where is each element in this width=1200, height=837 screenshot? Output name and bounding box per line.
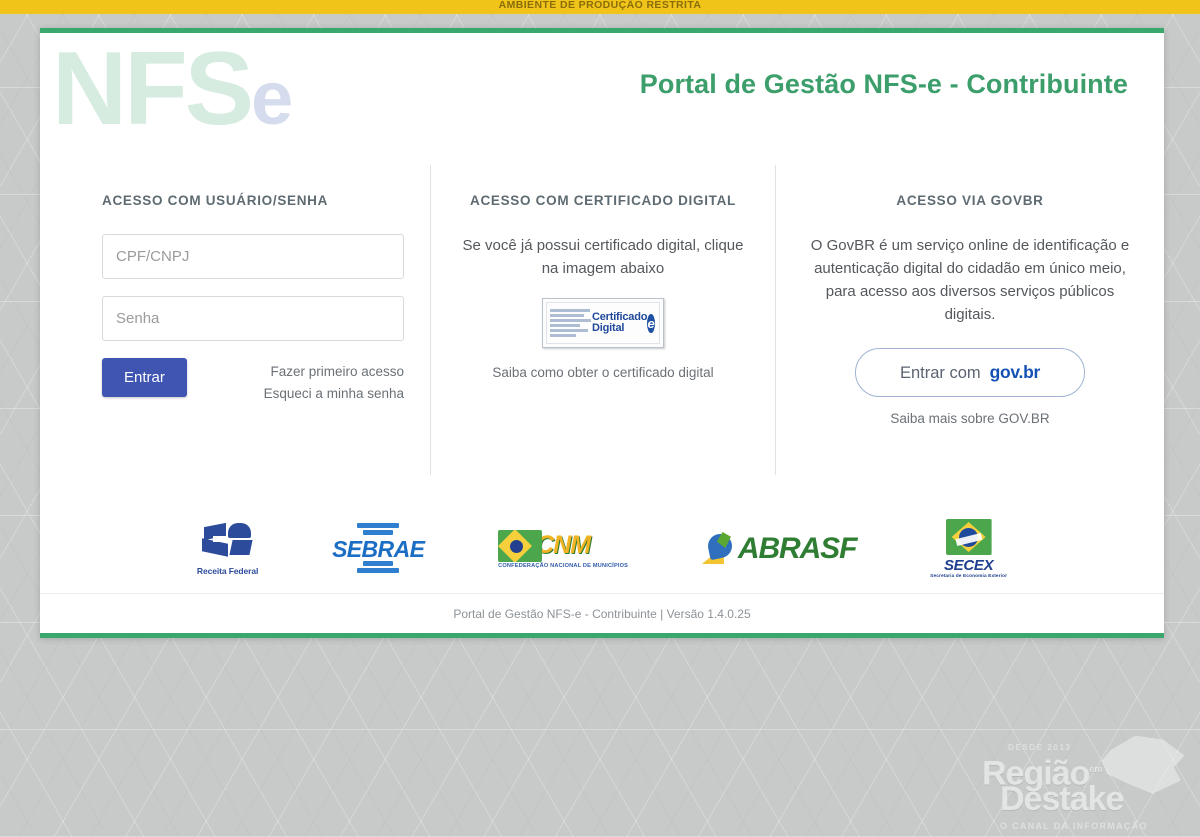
entrar-com-govbr-button[interactable]: Entrar com gov.br [855,348,1085,397]
login-helper-links: Fazer primeiro acesso Esqueci a minha se… [264,358,404,405]
sebrae-label: SEBRAE [332,537,424,561]
page-title: Portal de Gestão NFS-e - Contribuinte [640,69,1128,100]
govbr-button-prefix: Entrar com [900,364,981,383]
certificate-lines-graphic [547,307,591,339]
abrasf-label: ABRASF [738,532,856,566]
govbr-column-heading: ACESSO VIA GOVBR [800,193,1140,208]
login-column-user-password: ACESSO COM USUÁRIO/SENHA Entrar Fazer pr… [40,165,430,475]
cnm-label: CNM [536,531,590,560]
cnm-logo-row: CNM [498,530,628,562]
certificado-digital-image-inner: Certificado Digital e [546,302,660,344]
e-certificate-icon: e [647,314,655,333]
cnm-logo[interactable]: CNM CONFEDERAÇÃO NACIONAL DE MUNICÍPIOS [498,530,628,569]
sebrae-logo[interactable]: SEBRAE [332,523,424,575]
certificate-image-text: Certificado Digital [591,312,647,334]
certificate-how-to-link[interactable]: Saiba como obter o certificado digital [492,365,713,380]
govbr-description: O GovBR é um serviço online de identific… [806,234,1134,326]
card-footer: Portal de Gestão NFS-e - Contribuinte | … [40,593,1164,633]
login-column-heading: ACESSO COM USUÁRIO/SENHA [102,193,406,208]
entrar-button[interactable]: Entrar [102,358,187,397]
login-card: NFSe Portal de Gestão NFS-e - Contribuin… [40,28,1164,638]
login-card-wrapper: NFSe Portal de Gestão NFS-e - Contribuin… [40,28,1164,638]
secex-label: SECEX [930,557,1007,574]
abrasf-swoosh-icon [702,532,736,566]
secex-logo[interactable]: SECEX Secretaria de Economia Exterior [930,519,1007,579]
nfse-logo-watermark: NFSe [52,37,290,141]
access-options-columns: ACESSO COM USUÁRIO/SENHA Entrar Fazer pr… [40,165,1164,475]
partner-logos-row: Receita Federal SEBRAE CNM CONFEDERAÇÃO … [40,501,1164,597]
receita-federal-logo[interactable]: Receita Federal [197,523,258,576]
abrasf-logo-row: ABRASF [702,532,856,566]
restricted-environment-banner: AMBIENTE DE PRODUÇÃO RESTRITA [0,0,1200,14]
password-input[interactable] [102,296,404,341]
govbr-wordmark: gov.br [990,362,1040,383]
secex-sublabel: Secretaria de Economia Exterior [930,574,1007,579]
certificate-image-line2: Digital [592,323,647,334]
first-access-link[interactable]: Fazer primeiro acesso [264,361,404,383]
govbr-more-info-link[interactable]: Saiba mais sobre GOV.BR [800,411,1140,426]
abrasf-logo[interactable]: ABRASF [702,532,856,566]
sebrae-bar-top [357,523,399,528]
login-column-certificate: ACESSO COM CERTIFICADO DIGITAL Se você j… [430,165,776,475]
sebrae-bar-top2 [363,530,393,535]
nfse-logo-text: NFS [52,31,251,147]
nfse-logo-e: e [251,56,290,141]
certificado-digital-image-button[interactable]: Certificado Digital e [542,298,664,348]
sebrae-bar-bottom [357,568,399,573]
certificate-description: Se você já possui certificado digital, c… [459,234,747,280]
receita-federal-icon [200,523,256,563]
receita-federal-label: Receita Federal [197,566,258,576]
cpf-cnpj-input[interactable] [102,234,404,279]
forgot-password-link[interactable]: Esqueci a minha senha [264,383,404,405]
secex-flag-icon [946,519,992,555]
brazil-flag-icon [498,530,542,562]
certificate-column-heading: ACESSO COM CERTIFICADO DIGITAL [455,193,751,208]
login-form-actions: Entrar Fazer primeiro acesso Esqueci a m… [102,358,404,405]
cnm-sublabel: CONFEDERAÇÃO NACIONAL DE MUNICÍPIOS [498,563,628,569]
login-column-govbr: ACESSO VIA GOVBR O GovBR é um serviço on… [776,165,1164,475]
